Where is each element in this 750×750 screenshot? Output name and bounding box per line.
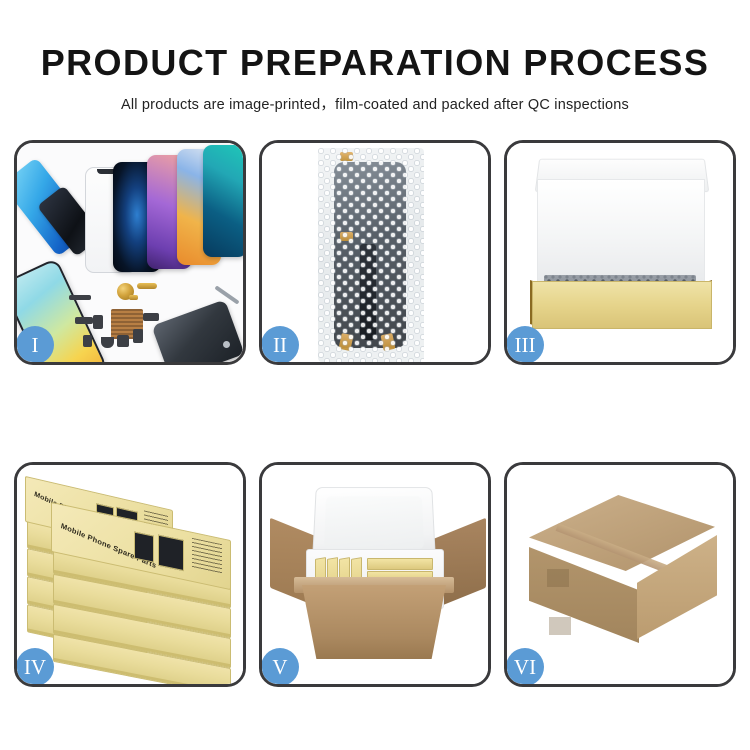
open-mailer-box-illustration xyxy=(507,143,733,362)
screw-part xyxy=(223,341,230,348)
sealed-carton-illustration xyxy=(507,465,733,684)
battery-connector-part xyxy=(69,295,91,300)
process-step-panel-4: Mobile Phone Spare Parts Mobile Phone Sp… xyxy=(14,462,246,687)
antenna-part xyxy=(143,313,159,321)
yellow-box-tray xyxy=(532,281,712,329)
page-subtitle: All products are image-printed，film-coat… xyxy=(0,82,750,114)
carton-loading-illustration xyxy=(262,465,488,684)
vibrator-part xyxy=(117,335,129,347)
phone-teal-wave xyxy=(203,145,243,257)
step-badge-2: II xyxy=(262,326,299,362)
step-badge-3: III xyxy=(507,326,544,362)
process-step-panel-6: VI xyxy=(504,462,736,687)
bubble-wrap-bag xyxy=(318,148,424,362)
gold-contact-part xyxy=(129,295,138,300)
bubble-wrapped-display-illustration xyxy=(262,143,488,362)
taptic-engine-part xyxy=(101,337,114,348)
process-step-panel-2: II xyxy=(259,140,491,365)
carton-handle-tab-upper xyxy=(547,569,569,587)
step-badge-1: I xyxy=(17,326,54,362)
product-preparation-infographic: PRODUCT PREPARATION PROCESS All products… xyxy=(0,0,750,750)
flex-cable-part xyxy=(75,317,93,324)
process-step-grid: I II xyxy=(14,140,736,688)
process-step-panel-3: III xyxy=(504,140,736,365)
header: PRODUCT PREPARATION PROCESS All products… xyxy=(0,0,750,114)
process-step-panel-1: I xyxy=(14,140,246,365)
step-5-image: V xyxy=(262,465,488,684)
step-badge-4: IV xyxy=(17,648,54,684)
step-3-image: III xyxy=(507,143,733,362)
step-4-image: Mobile Phone Spare Parts Mobile Phone Sp… xyxy=(17,465,243,684)
step-6-image: VI xyxy=(507,465,733,684)
sim-tray-part xyxy=(83,335,92,347)
carton-front-face xyxy=(302,585,446,659)
step-badge-5: V xyxy=(262,648,299,684)
phone-back-housing xyxy=(151,299,243,362)
page-title: PRODUCT PREPARATION PROCESS xyxy=(0,0,750,82)
phone-parts-flatlay-illustration xyxy=(17,143,243,362)
carton-handle-tab-lower xyxy=(549,617,571,635)
camera-module-part xyxy=(93,315,103,329)
step-2-image: II xyxy=(262,143,488,362)
bubble-texture xyxy=(318,148,424,362)
stacked-retail-boxes-illustration: Mobile Phone Spare Parts Mobile Phone Sp… xyxy=(17,465,243,684)
step-badge-6: VI xyxy=(507,648,544,684)
foam-sheet xyxy=(537,179,705,285)
gold-connector-part xyxy=(137,283,157,289)
process-step-panel-5: V xyxy=(259,462,491,687)
step-1-image: I xyxy=(17,143,243,362)
battery-cell-part xyxy=(133,329,143,343)
